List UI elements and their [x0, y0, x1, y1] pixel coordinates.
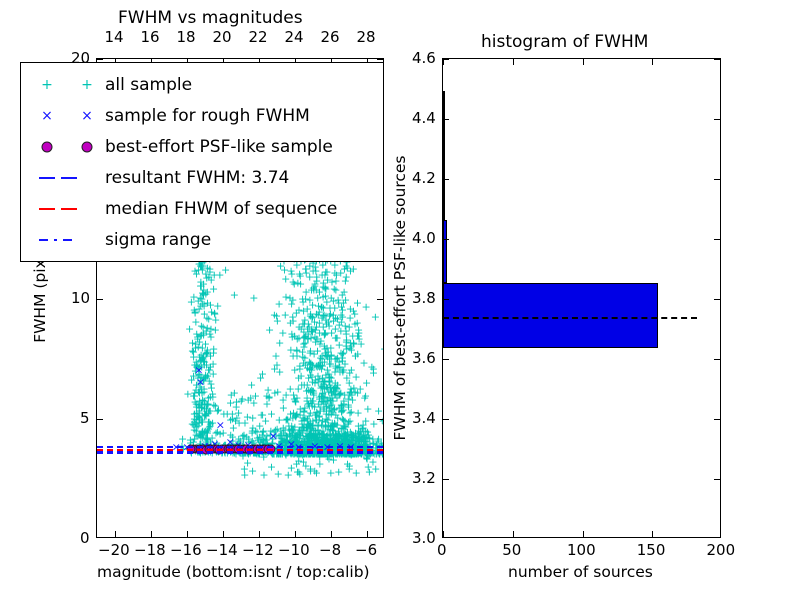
axis-tickmark [714, 179, 720, 180]
scatter-marker-plus: + [281, 274, 290, 285]
tick-label: 20 [213, 28, 232, 46]
scatter-marker-plus: + [304, 319, 313, 330]
scatter-marker-plus: + [287, 298, 296, 309]
tick-label: 14 [105, 28, 124, 46]
tick-label: 0 [437, 541, 447, 559]
scatter-marker-plus: + [324, 453, 333, 464]
tick-label: 4.6 [412, 49, 436, 67]
scatter-marker-plus: + [296, 409, 305, 420]
axis-tickmark [97, 419, 103, 420]
axis-tickmark [377, 59, 383, 60]
tick-label: 4.4 [412, 109, 436, 127]
tick-label: 100 [567, 541, 596, 559]
axis-tickmark [377, 299, 383, 300]
scatter-marker-cross: × [216, 420, 225, 431]
scatter-marker-plus: + [351, 372, 360, 383]
histogram-plot-area[interactable] [442, 58, 721, 538]
axis-tickmark [443, 479, 449, 480]
axis-tickmark [443, 239, 449, 240]
right-x-axis-label: number of sources [508, 563, 653, 581]
axis-tickmark [187, 531, 188, 537]
scatter-marker-plus: + [315, 307, 324, 318]
legend-circle-icon [82, 141, 93, 152]
scatter-marker-plus: + [343, 459, 352, 470]
scatter-marker-plus: + [322, 395, 331, 406]
legend-dashed-line-icon [39, 177, 55, 179]
scatter-marker-plus: + [292, 346, 301, 357]
scatter-marker-plus: + [195, 303, 204, 314]
legend-symbol [29, 168, 105, 188]
scatter-marker-plus: + [290, 331, 299, 342]
scatter-marker-plus: + [305, 271, 314, 282]
tick-label: −10 [278, 541, 310, 559]
legend-dashed-line-icon [39, 208, 55, 210]
axis-tickmark [513, 531, 514, 537]
tick-label: −16 [170, 541, 202, 559]
scatter-marker-plus: + [383, 435, 384, 446]
legend-plus-icon: + [41, 78, 53, 92]
histogram-bar [443, 220, 447, 284]
scatter-marker-plus: + [351, 350, 360, 361]
scatter-marker-plus: + [340, 263, 349, 274]
axis-tickmark [97, 59, 103, 60]
legend-plus-icon: + [81, 78, 93, 92]
scatter-marker-plus: + [286, 408, 295, 419]
tick-label: 28 [357, 28, 376, 46]
left-plot-title: FWHM vs magnitudes [118, 8, 303, 28]
scatter-marker-plus: + [257, 409, 266, 420]
legend-symbol [29, 230, 105, 250]
tick-label: 24 [285, 28, 304, 46]
scatter-marker-plus: + [256, 372, 265, 383]
scatter-marker-plus: + [230, 290, 239, 301]
legend-label: median FHWM of sequence [105, 199, 337, 219]
axis-tickmark [97, 299, 103, 300]
tick-label: −6 [355, 541, 377, 559]
tick-label: 150 [637, 541, 666, 559]
axis-tickmark [714, 419, 720, 420]
scatter-marker-plus: + [353, 298, 362, 309]
tick-label: −20 [98, 541, 130, 559]
axis-tickmark [714, 479, 720, 480]
tick-label: 3.6 [412, 349, 436, 367]
axis-tickmark [151, 531, 152, 537]
legend-item: best-effort PSF-like sample [21, 131, 383, 162]
scatter-marker-plus: + [249, 293, 258, 304]
axis-tickmark [714, 239, 720, 240]
scatter-marker-plus: + [327, 373, 336, 384]
axis-tickmark [443, 59, 449, 60]
scatter-marker-plus: + [270, 310, 279, 321]
legend-item: ++all sample [21, 69, 383, 100]
scatter-marker-plus: + [207, 306, 216, 317]
tick-label: 4.2 [412, 169, 436, 187]
tick-label: 16 [141, 28, 160, 46]
scatter-marker-plus: + [339, 298, 348, 309]
legend-label: resultant FWHM: 3.74 [105, 168, 289, 188]
scatter-marker-plus: + [274, 468, 283, 479]
scatter-marker-plus: + [209, 359, 218, 370]
axis-tickmark [583, 59, 584, 65]
axis-tickmark [583, 531, 584, 537]
axis-tickmark [443, 299, 449, 300]
scatter-marker-plus: + [346, 383, 355, 394]
scatter-marker-plus: + [191, 316, 200, 327]
scatter-marker-plus: + [304, 385, 313, 396]
legend-item: median FHWM of sequence [21, 193, 383, 224]
right-plot-title: histogram of FWHM [481, 32, 648, 52]
scatter-marker-plus: + [383, 448, 384, 459]
scatter-marker-plus: + [339, 396, 348, 407]
scatter-marker-plus: + [360, 393, 369, 404]
legend-dashdot-line-icon [54, 239, 57, 241]
tick-label: 3.4 [412, 409, 436, 427]
scatter-marker-plus: + [359, 358, 368, 369]
scatter-marker-plus: + [365, 467, 374, 478]
axis-tickmark [443, 419, 449, 420]
axis-tickmark [513, 59, 514, 65]
scatter-marker-plus: + [327, 409, 336, 420]
scatter-marker-plus: + [378, 415, 384, 426]
scatter-marker-plus: + [195, 414, 204, 425]
tick-label: 4.0 [412, 229, 436, 247]
axis-tickmark [652, 531, 653, 537]
scatter-marker-plus: + [380, 343, 384, 354]
tick-label: 10 [71, 289, 90, 307]
axis-tickmark [259, 531, 260, 537]
tick-label: −14 [206, 541, 238, 559]
histogram-bar [443, 91, 445, 156]
scatter-marker-plus: + [205, 375, 214, 386]
scatter-marker-plus: + [232, 401, 241, 412]
scatter-marker-plus: + [361, 302, 370, 313]
scatter-marker-plus: + [221, 265, 230, 276]
axis-tickmark [115, 531, 116, 537]
scatter-marker-plus: + [209, 400, 218, 411]
scatter-marker-plus: + [206, 331, 215, 342]
axis-tickmark [443, 119, 449, 120]
tick-label: 5 [80, 409, 90, 427]
legend-symbol [29, 137, 105, 157]
scatter-marker-cross: × [196, 376, 205, 387]
axis-tickmark [714, 359, 720, 360]
legend-label: all sample [105, 75, 192, 95]
resultant-fwhm-line [97, 451, 383, 453]
scatter-marker-plus: + [198, 353, 207, 364]
axis-tickmark [331, 531, 332, 537]
scatter-marker-plus: + [300, 332, 309, 343]
scatter-marker-plus: + [244, 394, 253, 405]
scatter-marker-plus: + [337, 316, 346, 327]
legend-item: ××sample for rough FWHM [21, 100, 383, 131]
tick-label: 3.0 [412, 529, 436, 547]
tick-label: 22 [249, 28, 268, 46]
scatter-marker-plus: + [319, 292, 328, 303]
scatter-marker-plus: + [198, 426, 207, 437]
scatter-marker-plus: + [270, 363, 279, 374]
legend-dashed-line-icon [61, 208, 77, 210]
scatter-marker-plus: + [190, 387, 199, 398]
axis-tickmark [377, 419, 383, 420]
legend-label: sigma range [105, 230, 211, 250]
scatter-marker-plus: + [362, 453, 371, 464]
right-y-axis-label: FWHM of best-effort PSF-like sources [391, 155, 409, 440]
legend-label: sample for rough FWHM [105, 106, 310, 126]
histogram-bar [443, 283, 658, 348]
scatter-marker-plus: + [204, 272, 213, 283]
scatter-marker-plus: + [353, 317, 362, 328]
legend-cross-icon: × [41, 109, 53, 123]
tick-label: 50 [502, 541, 521, 559]
left-x-axis-label: magnitude (bottom:isnt / top:calib) [97, 563, 370, 581]
scatter-marker-plus: + [209, 344, 218, 355]
legend-box: ++all sample××sample for rough FWHMbest-… [20, 62, 384, 262]
tick-label: −18 [134, 541, 166, 559]
histogram-bar [443, 155, 445, 220]
scatter-marker-plus: + [199, 290, 208, 301]
scatter-marker-plus: + [369, 368, 378, 379]
scatter-marker-plus: + [310, 466, 319, 477]
scatter-marker-plus: + [262, 390, 271, 401]
tick-label: 200 [707, 541, 736, 559]
legend-cross-icon: × [81, 109, 93, 123]
legend-label: best-effort PSF-like sample [105, 137, 333, 157]
scatter-marker-plus: + [354, 331, 363, 342]
axis-tickmark [652, 59, 653, 65]
scatter-marker-plus: + [252, 427, 261, 438]
legend-dashed-line-icon [61, 177, 77, 179]
scatter-marker-plus: + [371, 311, 380, 322]
scatter-marker-cross: × [194, 364, 203, 375]
scatter-marker-plus: + [331, 360, 340, 371]
scatter-marker-plus: + [278, 328, 287, 339]
axis-tickmark [714, 59, 720, 60]
legend-symbol [29, 199, 105, 219]
scatter-marker-plus: + [187, 375, 196, 386]
scatter-marker-plus: + [259, 470, 268, 481]
tick-label: −8 [319, 541, 341, 559]
scatter-marker-plus: + [281, 309, 290, 320]
scatter-marker-plus: + [302, 287, 311, 298]
legend-symbol: ++ [29, 75, 105, 95]
scatter-marker-plus: + [243, 458, 252, 469]
scatter-marker-plus: + [316, 335, 325, 346]
axis-tickmark [714, 299, 720, 300]
legend-dashdot-line-icon [39, 239, 48, 241]
axis-tickmark [223, 531, 224, 537]
legend-item: resultant FWHM: 3.74 [21, 162, 383, 193]
axis-tickmark [443, 179, 449, 180]
axis-tickmark [295, 531, 296, 537]
scatter-marker-plus: + [327, 277, 336, 288]
axis-tickmark [443, 531, 444, 537]
legend-symbol: ×× [29, 106, 105, 126]
tick-label: 3.2 [412, 469, 436, 487]
histogram-median-line [443, 317, 697, 319]
scatter-marker-plus: + [295, 469, 304, 480]
scatter-marker-cross: × [269, 430, 278, 441]
legend-dashdot-line-icon [63, 239, 72, 241]
left-y-axis-label: FWHM (pix) [31, 253, 49, 343]
tick-label: −12 [242, 541, 274, 559]
sigma-range-upper-line [97, 446, 383, 448]
scatter-marker-plus: + [336, 348, 345, 359]
axis-tickmark [443, 359, 449, 360]
scatter-marker-plus: + [329, 296, 338, 307]
tick-label: 26 [321, 28, 340, 46]
tick-label: 3.8 [412, 289, 436, 307]
legend-item: sigma range [21, 224, 383, 255]
tick-label: 18 [177, 28, 196, 46]
legend-circle-icon [42, 141, 53, 152]
figure-canvas: FWHM vs magnitudes 1416182022242628 −20−… [0, 0, 800, 600]
axis-tickmark [367, 531, 368, 537]
scatter-marker-plus: + [349, 264, 358, 275]
scatter-marker-plus: + [281, 389, 290, 400]
tick-label: 0 [80, 529, 90, 547]
scatter-marker-plus: + [314, 376, 323, 387]
axis-tickmark [714, 119, 720, 120]
